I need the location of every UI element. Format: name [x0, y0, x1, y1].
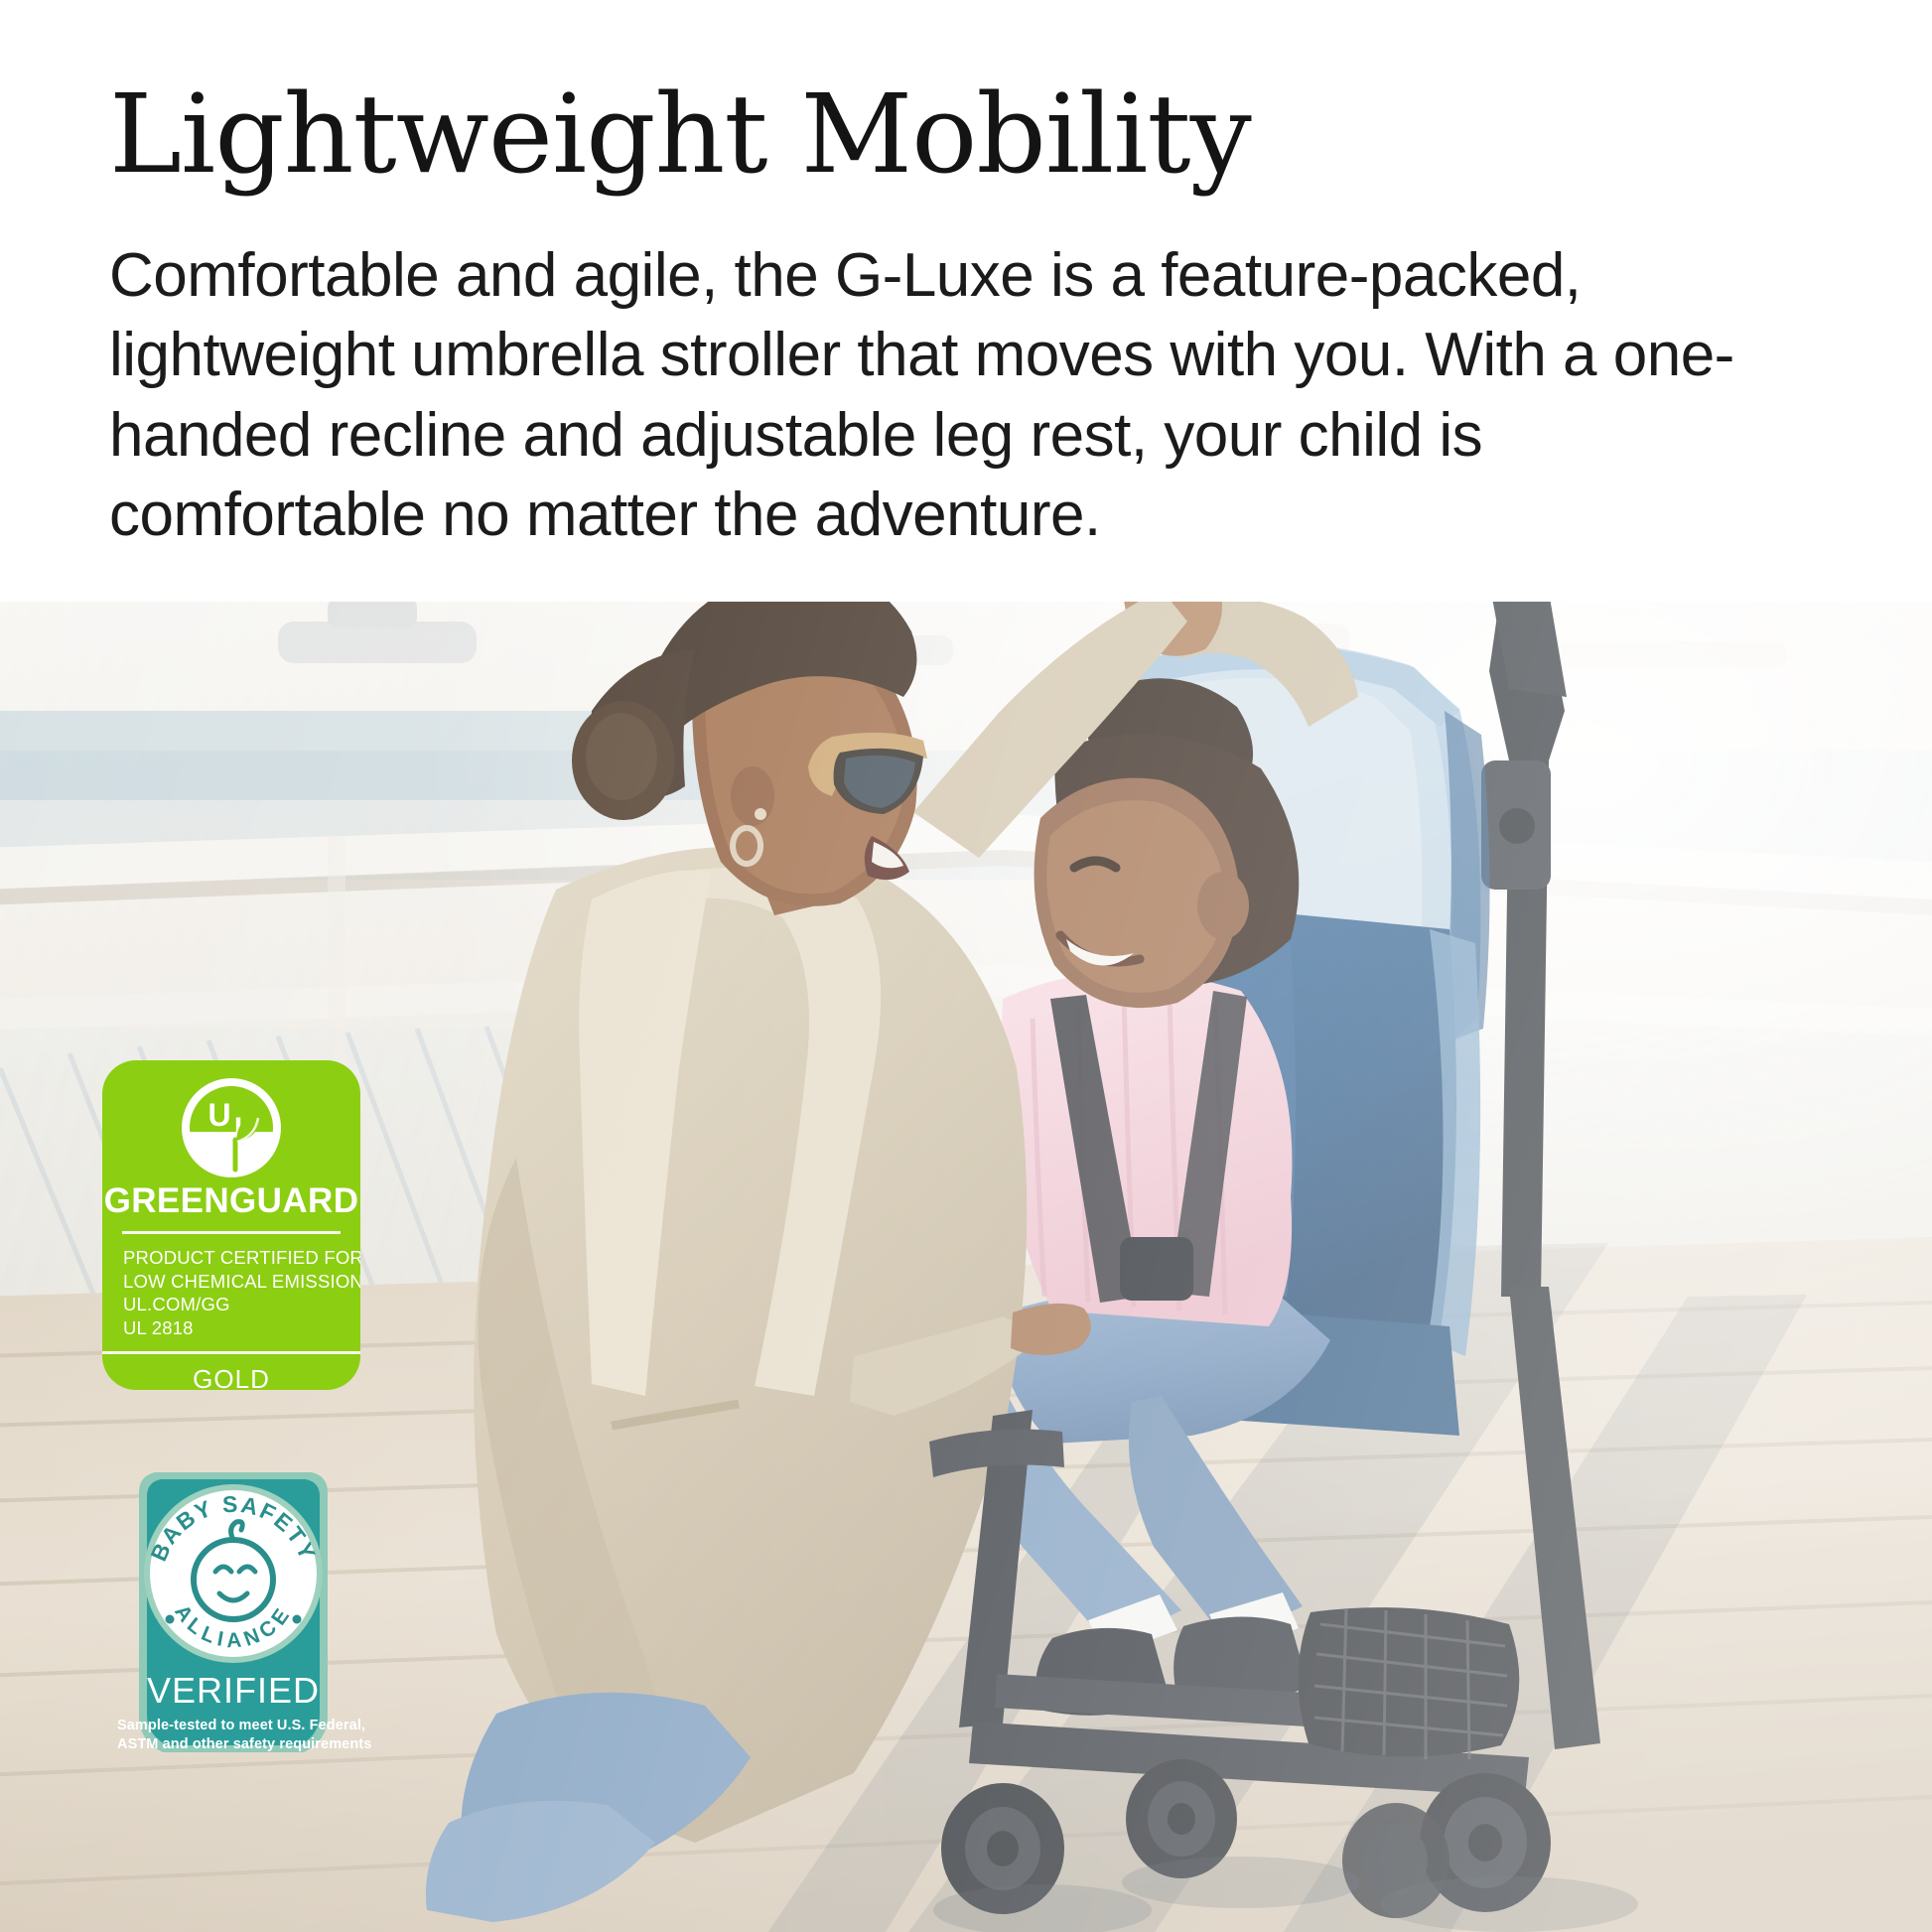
- badge-divider-top: [122, 1231, 341, 1234]
- badge-divider-bottom: [102, 1351, 360, 1354]
- greenguard-sub-line: LOW CHEMICAL EMISSIONS: [123, 1270, 360, 1294]
- baby-safety-status: VERIFIED: [109, 1673, 357, 1709]
- fineprint-line: Sample-tested to meet U.S. Federal,: [117, 1717, 349, 1735]
- fineprint-line: ASTM and other safety requirements: [117, 1735, 349, 1754]
- copy-block: Lightweight Mobility Comfortable and agi…: [109, 77, 1857, 556]
- greenguard-sub-line: PRODUCT CERTIFIED FOR: [123, 1246, 360, 1270]
- greenguard-level: GOLD: [102, 1364, 360, 1390]
- greenguard-badge: U L GREENGUARD PRODUCT CERTIFIED FOR LOW…: [102, 1060, 360, 1390]
- baby-safety-fineprint: Sample-tested to meet U.S. Federal, ASTM…: [117, 1717, 349, 1754]
- baby-safety-badge: BABY SAFETY ALLIANCE VERIFIED Sample-tes…: [109, 1466, 357, 1759]
- svg-text:U: U: [207, 1097, 230, 1133]
- body-copy: Comfortable and agile, the G-Luxe is a f…: [109, 236, 1737, 556]
- greenguard-sub-line: UL 2818: [123, 1316, 360, 1340]
- greenguard-subtext: PRODUCT CERTIFIED FOR LOW CHEMICAL EMISS…: [102, 1246, 360, 1340]
- product-feature-card: Lightweight Mobility Comfortable and agi…: [0, 0, 1932, 1932]
- baby-face-icon: BABY SAFETY ALLIANCE: [140, 1480, 327, 1667]
- ul-leaf-icon: U L: [180, 1076, 283, 1179]
- baby-safety-content: BABY SAFETY ALLIANCE VERIFIED Sample-tes…: [109, 1466, 357, 1759]
- greenguard-sub-line: UL.COM/GG: [123, 1293, 360, 1316]
- page-title: Lightweight Mobility: [109, 77, 1857, 193]
- greenguard-title: GREENGUARD: [102, 1183, 360, 1218]
